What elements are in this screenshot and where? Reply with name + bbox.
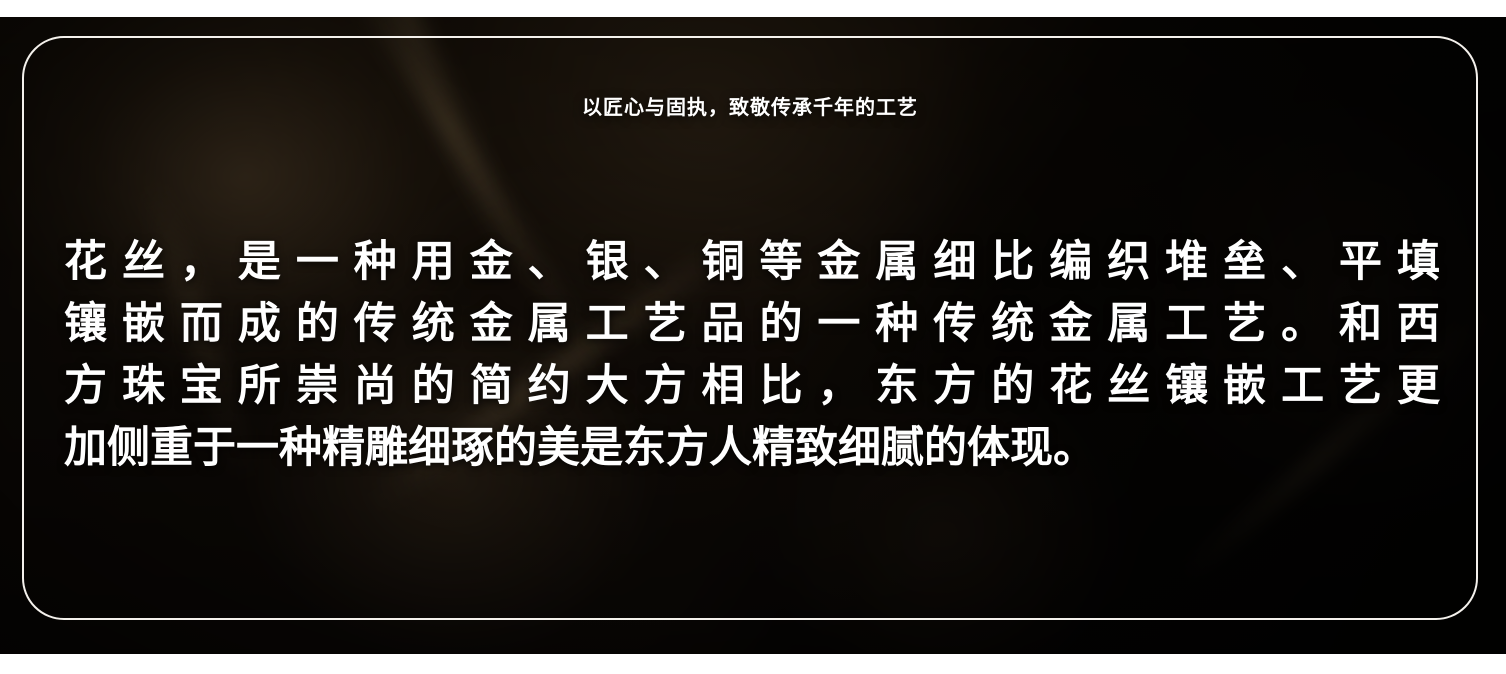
body-line: 加侧重于一种精雕细琢的美是东方人精致细腻的体现。 <box>64 418 1440 480</box>
body-line: 方珠宝所崇尚的简约大方相比，东方的花丝镶嵌工艺更 <box>64 356 1440 418</box>
body-line: 花丝，是一种用金、银、铜等金属细比编织堆垒、平填 <box>64 232 1440 294</box>
body-line: 镶嵌而成的传统金属工艺品的一种传统金属工艺。和西 <box>64 294 1440 356</box>
body-paragraph: 花丝，是一种用金、银、铜等金属细比编织堆垒、平填 镶嵌而成的传统金属工艺品的一种… <box>64 232 1440 480</box>
promo-banner: 以匠心与固执，致敬传承千年的工艺 花丝，是一种用金、银、铜等金属细比编织堆垒、平… <box>0 0 1506 674</box>
headline-title: 以匠心与固执，致敬传承千年的工艺 <box>22 98 1478 118</box>
banner-content: 以匠心与固执，致敬传承千年的工艺 花丝，是一种用金、银、铜等金属细比编织堆垒、平… <box>22 36 1478 620</box>
